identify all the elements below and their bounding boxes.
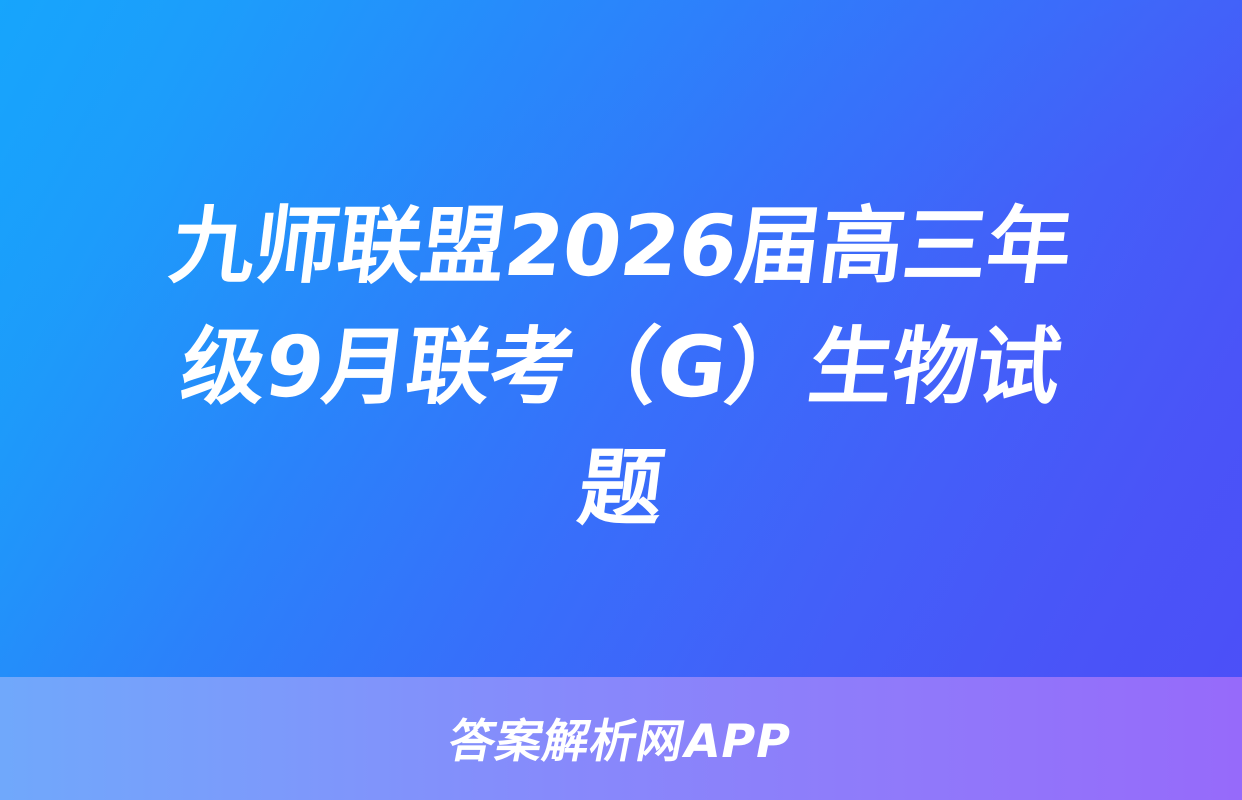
title-line-1: 九师联盟2026届高三年 bbox=[51, 186, 1192, 307]
page-title: 九师联盟2026届高三年 级9月联考（G）生物试 题 bbox=[0, 186, 1242, 549]
title-line-3: 题 bbox=[51, 428, 1192, 549]
watermark-band: 答案解析网APP bbox=[0, 677, 1242, 800]
watermark-label: 答案解析网APP bbox=[444, 705, 798, 773]
exam-cover-card: 九师联盟2026届高三年 级9月联考（G）生物试 题 答案解析网APP bbox=[0, 0, 1242, 800]
title-line-2: 级9月联考（G）生物试 bbox=[51, 307, 1192, 428]
